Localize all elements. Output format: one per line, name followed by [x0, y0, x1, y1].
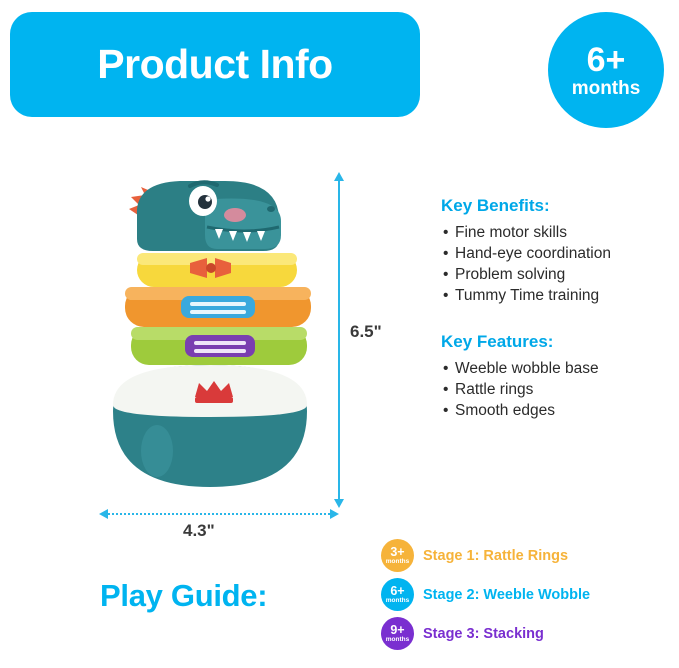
info-column: Key Benefits: Fine motor skills Hand-eye…: [441, 196, 676, 447]
stage-age-badge: 9+ months: [381, 617, 414, 650]
product-illustration: [95, 165, 325, 495]
width-dimension-line: [108, 513, 330, 517]
age-badge-value: 6+: [587, 43, 626, 77]
key-features-heading: Key Features:: [441, 332, 676, 352]
weeble-base-shape: [113, 365, 307, 487]
width-arrow-right-icon: [330, 509, 339, 519]
stage-age-value: 9+: [390, 624, 404, 637]
age-badge-unit: months: [572, 79, 641, 98]
play-guide-stages: 3+ months Stage 1: Rattle Rings 6+ month…: [381, 538, 671, 655]
dino-head-shape: [129, 181, 281, 251]
stage-age-unit: months: [386, 598, 409, 605]
key-benefits-heading: Key Benefits:: [441, 196, 676, 216]
list-item: Smooth edges: [441, 400, 676, 421]
stage-age-unit: months: [386, 559, 409, 566]
play-guide-title: Play Guide:: [100, 578, 267, 614]
height-dimension-line: [338, 180, 340, 500]
stage-age-value: 3+: [390, 546, 404, 559]
list-item: Problem solving: [441, 264, 676, 285]
ring-yellow-shape: [137, 253, 297, 287]
stage-row: 6+ months Stage 2: Weeble Wobble: [381, 577, 671, 612]
list-item: Fine motor skills: [441, 222, 676, 243]
height-arrow-up-icon: [334, 172, 344, 181]
stage-row: 3+ months Stage 1: Rattle Rings: [381, 538, 671, 573]
list-item: Tummy Time training: [441, 285, 676, 306]
stage-label: Stage 3: Stacking: [423, 626, 544, 642]
list-item: Weeble wobble base: [441, 358, 676, 379]
stage-age-badge: 6+ months: [381, 578, 414, 611]
ring-green-shape: [131, 327, 307, 365]
product-info-banner: Product Info: [10, 12, 420, 117]
stage-label: Stage 2: Weeble Wobble: [423, 587, 590, 603]
list-item: Rattle rings: [441, 379, 676, 400]
width-dimension-label: 4.3": [183, 521, 215, 541]
ring-orange-shape: [125, 287, 311, 327]
height-arrow-down-icon: [334, 499, 344, 508]
key-benefits-list: Fine motor skills Hand-eye coordination …: [441, 222, 676, 306]
age-badge: 6+ months: [548, 12, 664, 128]
stage-label: Stage 1: Rattle Rings: [423, 548, 568, 564]
width-arrow-left-icon: [99, 509, 108, 519]
list-item: Hand-eye coordination: [441, 243, 676, 264]
page-title: Product Info: [97, 44, 332, 85]
stage-age-value: 6+: [390, 585, 404, 598]
key-features-list: Weeble wobble base Rattle rings Smooth e…: [441, 358, 676, 421]
height-dimension-label: 6.5": [350, 322, 382, 342]
stage-age-badge: 3+ months: [381, 539, 414, 572]
stage-row: 9+ months Stage 3: Stacking: [381, 616, 671, 651]
stage-age-unit: months: [386, 637, 409, 644]
